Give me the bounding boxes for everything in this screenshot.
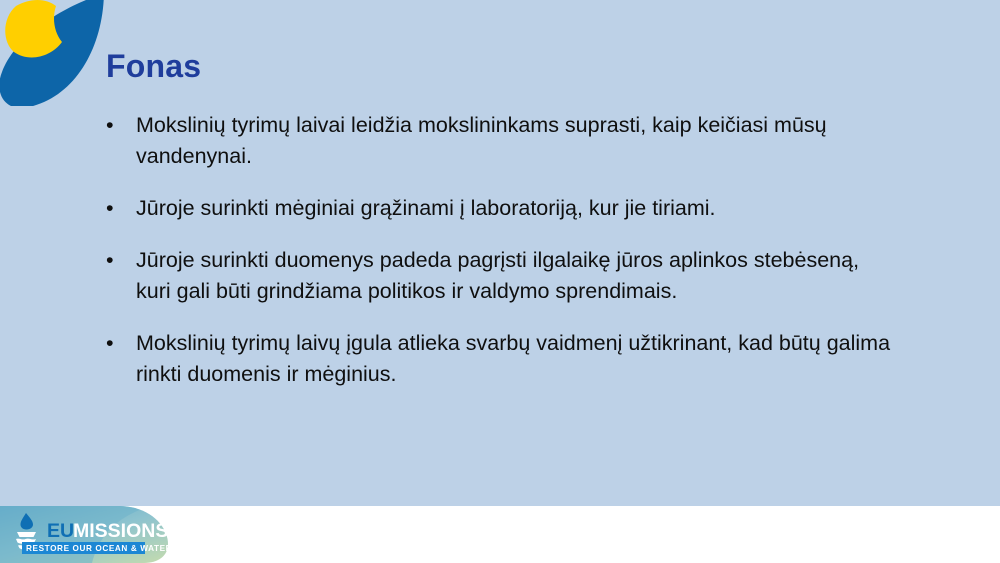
bullet-marker-icon: • — [106, 245, 114, 276]
list-item-text: Jūroje surinkti duomenys padeda pagrįsti… — [136, 248, 859, 303]
slide-footer: EU MISSIONS RESTORE OUR OCEAN & WATERS — [0, 506, 1000, 563]
bullet-list: • Mokslinių tyrimų laivai leidžia moksli… — [98, 110, 898, 390]
corner-wave-logo-icon — [0, 0, 104, 106]
bullet-marker-icon: • — [106, 328, 114, 359]
list-item-text: Jūroje surinkti mėginiai grąžinami į lab… — [136, 196, 710, 220]
eu-missions-subtitle: RESTORE OUR OCEAN & WATERS — [26, 544, 178, 553]
eu-missions-logo: EU MISSIONS RESTORE OUR OCEAN & WATERS — [0, 506, 205, 563]
list-item: • Jūroje surinkti duomenys padeda pagrįs… — [98, 245, 898, 307]
slide: Fonas • Mokslinių tyrimų laivai leidžia … — [0, 0, 1000, 563]
bullet-marker-icon: • — [106, 193, 114, 224]
list-item-trailing-punct: . — [710, 196, 716, 220]
bullet-marker-icon: • — [106, 110, 114, 141]
page-title: Fonas — [106, 49, 201, 84]
list-item-text: Mokslinių tyrimų laivai leidžia mokslini… — [136, 113, 827, 168]
eu-missions-title-missions: MISSIONS — [73, 520, 168, 542]
list-item: • Mokslinių tyrimų laivų įgula atlieka s… — [98, 328, 898, 390]
list-item: • Mokslinių tyrimų laivai leidžia moksli… — [98, 110, 898, 172]
list-item-text: Mokslinių tyrimų laivų įgula atlieka sva… — [136, 331, 890, 386]
eu-missions-title-eu: EU — [47, 520, 74, 542]
list-item: • Jūroje surinkti mėginiai grąžinami į l… — [98, 193, 898, 224]
